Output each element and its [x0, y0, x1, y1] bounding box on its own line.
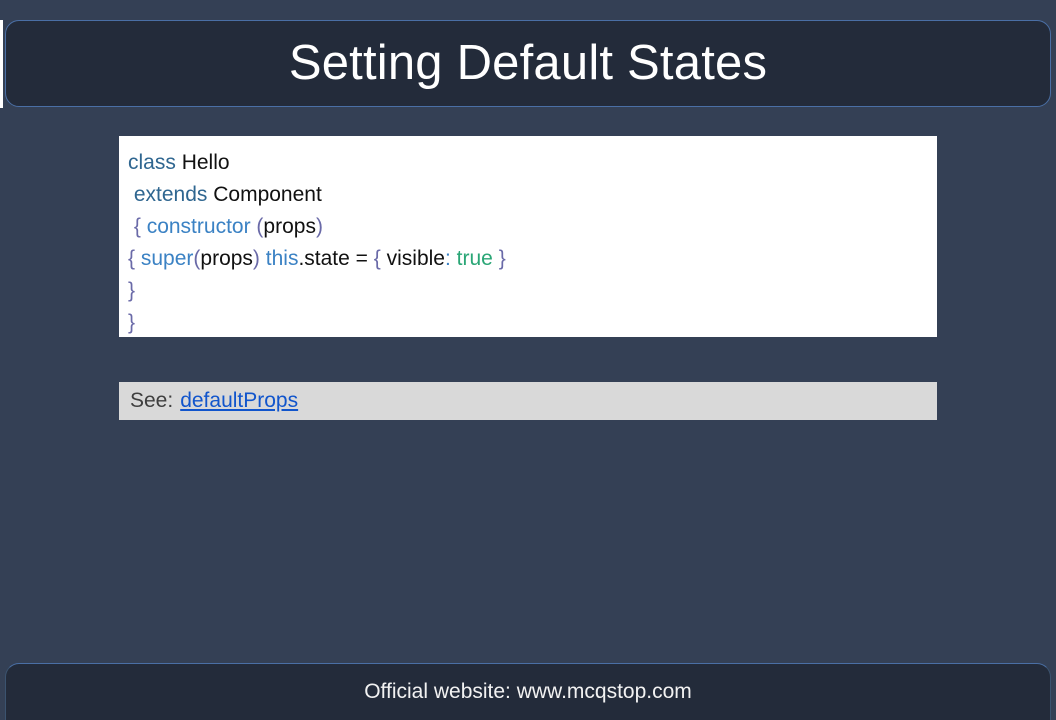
- code-token: {: [374, 247, 381, 270]
- see-also-label: See:: [130, 389, 173, 413]
- code-line: { constructor (props): [128, 211, 937, 243]
- code-token: constructor: [147, 215, 251, 238]
- slide-root: Setting Default States class Hello exten…: [0, 0, 1056, 720]
- see-also-box: See: defaultProps: [119, 382, 937, 420]
- page-title: Setting Default States: [289, 39, 767, 88]
- slide-footer-bar: Official website: www.mcqstop.com: [5, 663, 1051, 720]
- code-token: this: [266, 247, 299, 270]
- code-token: }: [128, 279, 135, 302]
- code-line: }: [128, 275, 937, 307]
- code-token: {: [128, 247, 135, 270]
- default-props-link[interactable]: defaultProps: [180, 389, 298, 413]
- code-token: ): [253, 247, 260, 270]
- left-edge-sliver: [0, 20, 3, 108]
- code-token: .state: [298, 247, 349, 270]
- code-token: }: [499, 247, 506, 270]
- code-token: }: [128, 311, 135, 334]
- code-line: extends Component: [128, 179, 937, 211]
- code-lines-container: class Hello extends Component { construc…: [128, 147, 937, 339]
- code-token: Hello: [176, 151, 230, 174]
- code-token: extends: [134, 183, 208, 206]
- code-token: super: [141, 247, 194, 270]
- code-token: Component: [207, 183, 321, 206]
- code-token: {: [134, 215, 141, 238]
- code-token: class: [128, 151, 176, 174]
- code-line: }: [128, 307, 937, 339]
- code-token: visible: [381, 247, 445, 270]
- code-line: class Hello: [128, 147, 937, 179]
- code-token: ): [316, 215, 323, 238]
- code-line: { super(props) this.state = { visible: t…: [128, 243, 937, 275]
- code-block: class Hello extends Component { construc…: [119, 136, 937, 337]
- code-token: =: [350, 247, 374, 270]
- code-token: true: [457, 247, 493, 270]
- footer-website-text: Official website: www.mcqstop.com: [364, 680, 692, 704]
- code-token: props: [200, 247, 253, 270]
- slide-title-bar: Setting Default States: [5, 20, 1051, 107]
- code-token: props: [263, 215, 316, 238]
